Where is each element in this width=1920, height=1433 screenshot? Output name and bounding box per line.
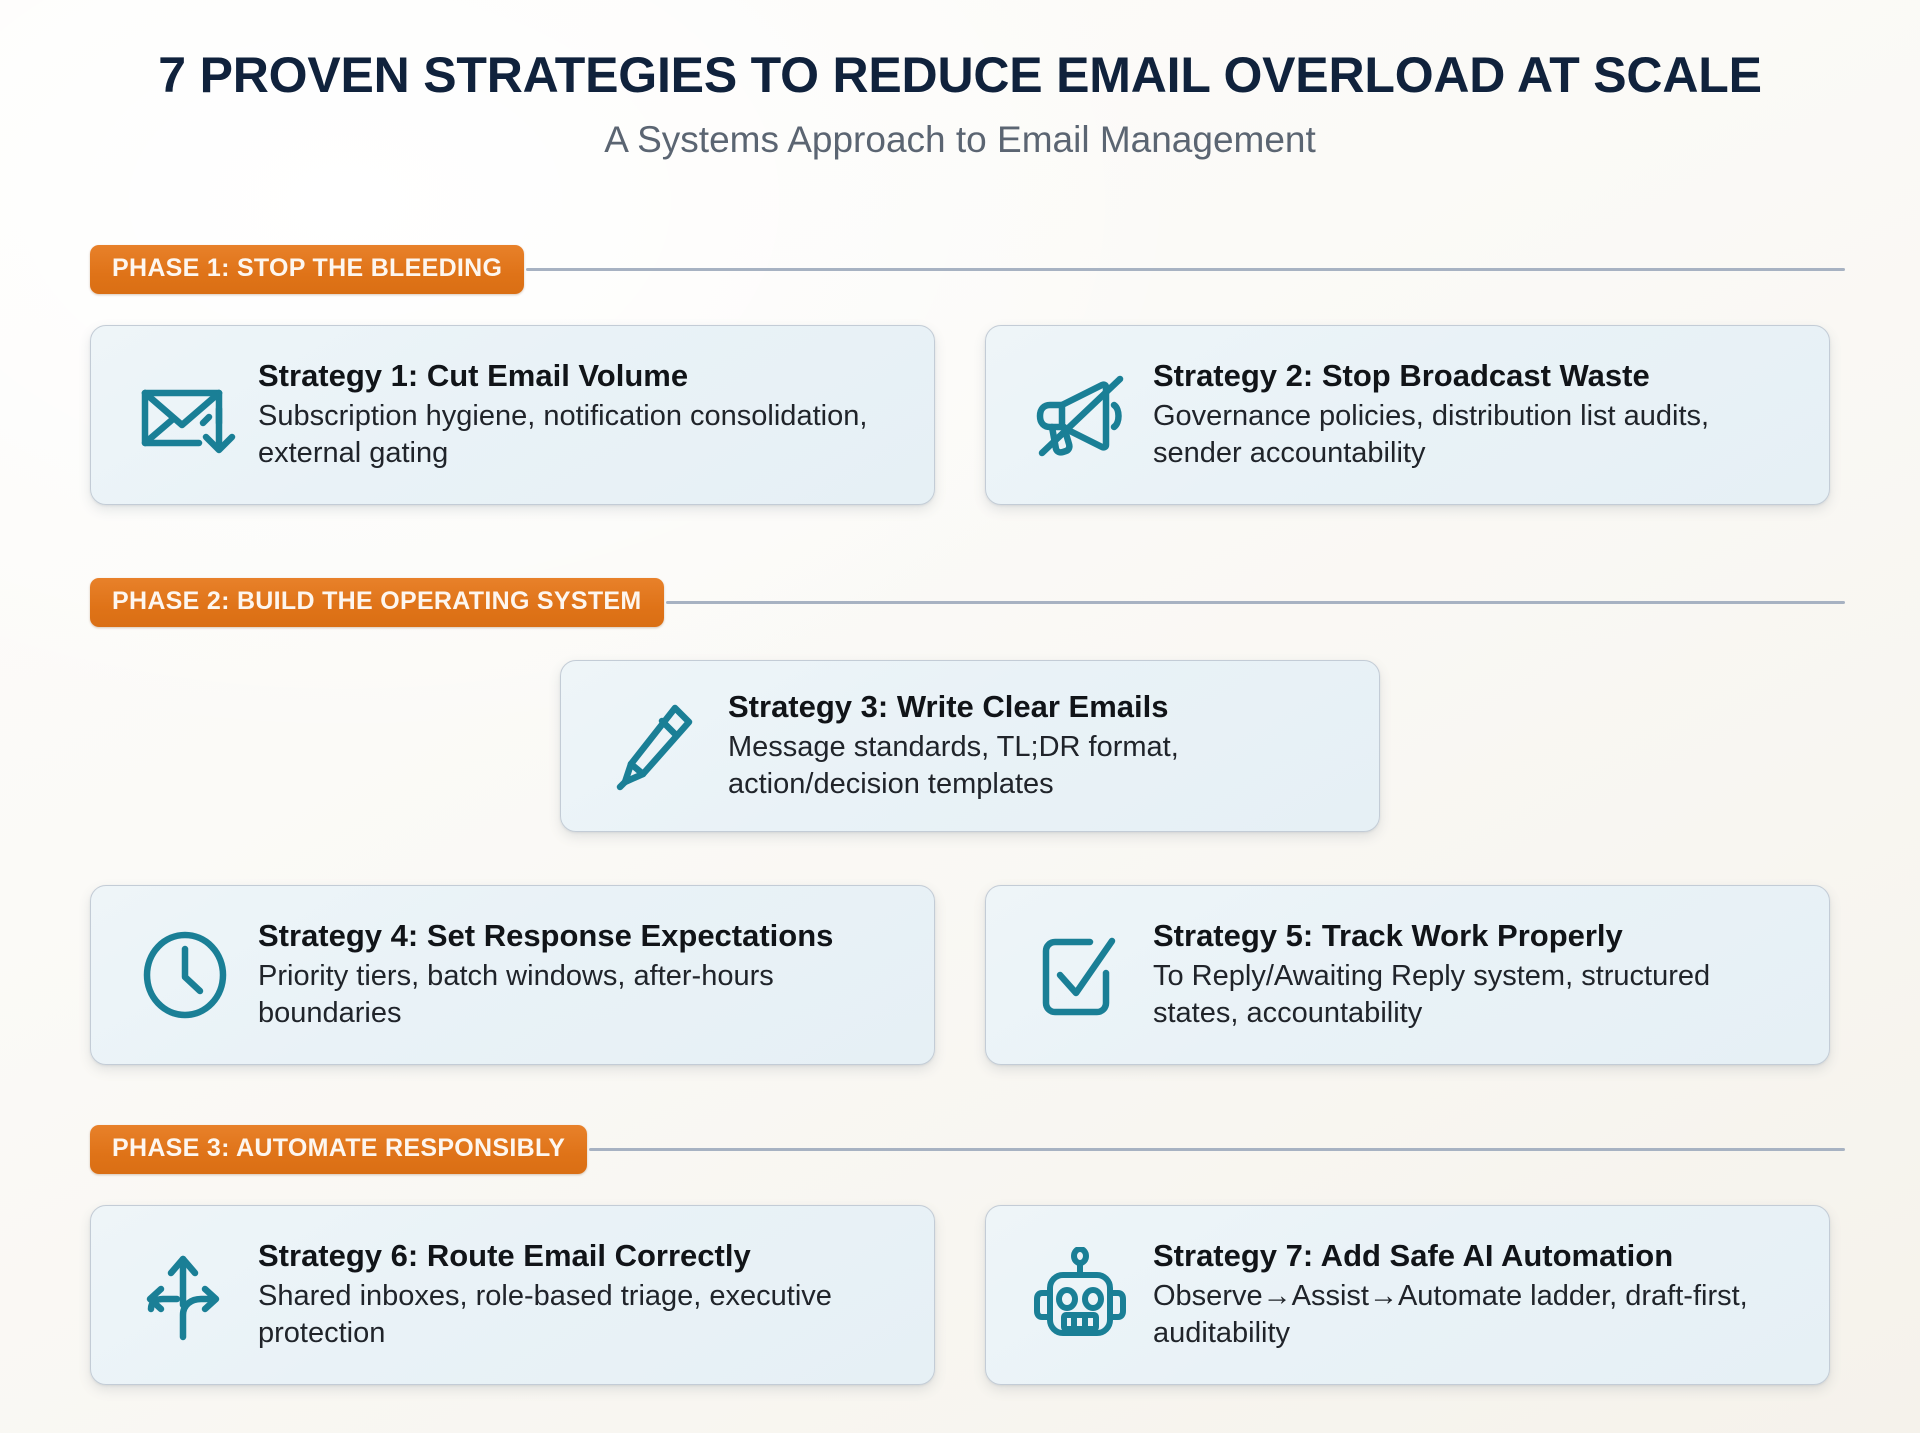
strategy-card-6-body: Strategy 6: Route Email Correctly Shared… [252, 1238, 908, 1351]
strategy-card-7-body: Strategy 7: Add Safe AI Automation Obser… [1147, 1238, 1803, 1351]
strategy-card-5[interactable]: Strategy 5: Track Work Properly To Reply… [985, 885, 1830, 1065]
strategy-card-2-body: Strategy 2: Stop Broadcast Waste Governa… [1147, 358, 1803, 471]
megaphone-muted-icon [1012, 355, 1147, 475]
phase-header-2: PHASE 2: BUILD THE OPERATING SYSTEM [90, 578, 1845, 627]
page-title: 7 PROVEN STRATEGIES TO REDUCE EMAIL OVER… [0, 48, 1920, 102]
page-subtitle: A Systems Approach to Email Management [0, 120, 1920, 161]
strategy-card-7-desc: Observe→Assist→Automate ladder, draft-fi… [1153, 1278, 1797, 1351]
strategy-card-1-desc: Subscription hygiene, notification conso… [258, 398, 902, 471]
strategy-card-7[interactable]: Strategy 7: Add Safe AI Automation Obser… [985, 1205, 1830, 1385]
phase-rule-3 [589, 1148, 1845, 1151]
strategy-card-1-body: Strategy 1: Cut Email Volume Subscriptio… [252, 358, 908, 471]
pencil-icon [587, 686, 722, 806]
strategy-card-3-desc: Message standards, TL;DR format, action/… [728, 729, 1347, 802]
strategy-card-1-title: Strategy 1: Cut Email Volume [258, 358, 902, 394]
phase-badge-3: PHASE 3: AUTOMATE RESPONSIBLY [90, 1125, 587, 1174]
strategy-card-7-title: Strategy 7: Add Safe AI Automation [1153, 1238, 1797, 1274]
strategy-card-2-desc: Governance policies, distribution list a… [1153, 398, 1797, 471]
strategy-card-3-title: Strategy 3: Write Clear Emails [728, 689, 1347, 725]
strategy-card-2-title: Strategy 2: Stop Broadcast Waste [1153, 358, 1797, 394]
header: 7 PROVEN STRATEGIES TO REDUCE EMAIL OVER… [0, 0, 1920, 161]
phase-header-3: PHASE 3: AUTOMATE RESPONSIBLY [90, 1125, 1845, 1174]
phase-rule-2 [666, 601, 1845, 604]
envelope-download-icon [117, 355, 252, 475]
strategy-card-6-title: Strategy 6: Route Email Correctly [258, 1238, 902, 1274]
strategy-card-3[interactable]: Strategy 3: Write Clear Emails Message s… [560, 660, 1380, 832]
strategy-card-5-body: Strategy 5: Track Work Properly To Reply… [1147, 918, 1803, 1031]
three-way-arrows-icon [117, 1235, 252, 1355]
strategy-card-4-desc: Priority tiers, batch windows, after-hou… [258, 958, 902, 1031]
strategy-card-4-title: Strategy 4: Set Response Expectations [258, 918, 902, 954]
strategy-card-3-body: Strategy 3: Write Clear Emails Message s… [722, 689, 1353, 802]
phase-header-1: PHASE 1: STOP THE BLEEDING [90, 245, 1845, 294]
strategy-card-1[interactable]: Strategy 1: Cut Email Volume Subscriptio… [90, 325, 935, 505]
strategy-card-5-desc: To Reply/Awaiting Reply system, structur… [1153, 958, 1797, 1031]
strategy-card-2[interactable]: Strategy 2: Stop Broadcast Waste Governa… [985, 325, 1830, 505]
robot-icon [1012, 1235, 1147, 1355]
strategy-card-5-title: Strategy 5: Track Work Properly [1153, 918, 1797, 954]
phase-rule-1 [526, 268, 1845, 271]
clock-icon [117, 915, 252, 1035]
phase-badge-2: PHASE 2: BUILD THE OPERATING SYSTEM [90, 578, 664, 627]
infographic-canvas: 7 PROVEN STRATEGIES TO REDUCE EMAIL OVER… [0, 0, 1920, 1433]
strategy-card-6[interactable]: Strategy 6: Route Email Correctly Shared… [90, 1205, 935, 1385]
strategy-card-4[interactable]: Strategy 4: Set Response Expectations Pr… [90, 885, 935, 1065]
checkbox-check-icon [1012, 915, 1147, 1035]
strategy-card-6-desc: Shared inboxes, role-based triage, execu… [258, 1278, 902, 1351]
strategy-card-4-body: Strategy 4: Set Response Expectations Pr… [252, 918, 908, 1031]
phase-badge-1: PHASE 1: STOP THE BLEEDING [90, 245, 524, 294]
